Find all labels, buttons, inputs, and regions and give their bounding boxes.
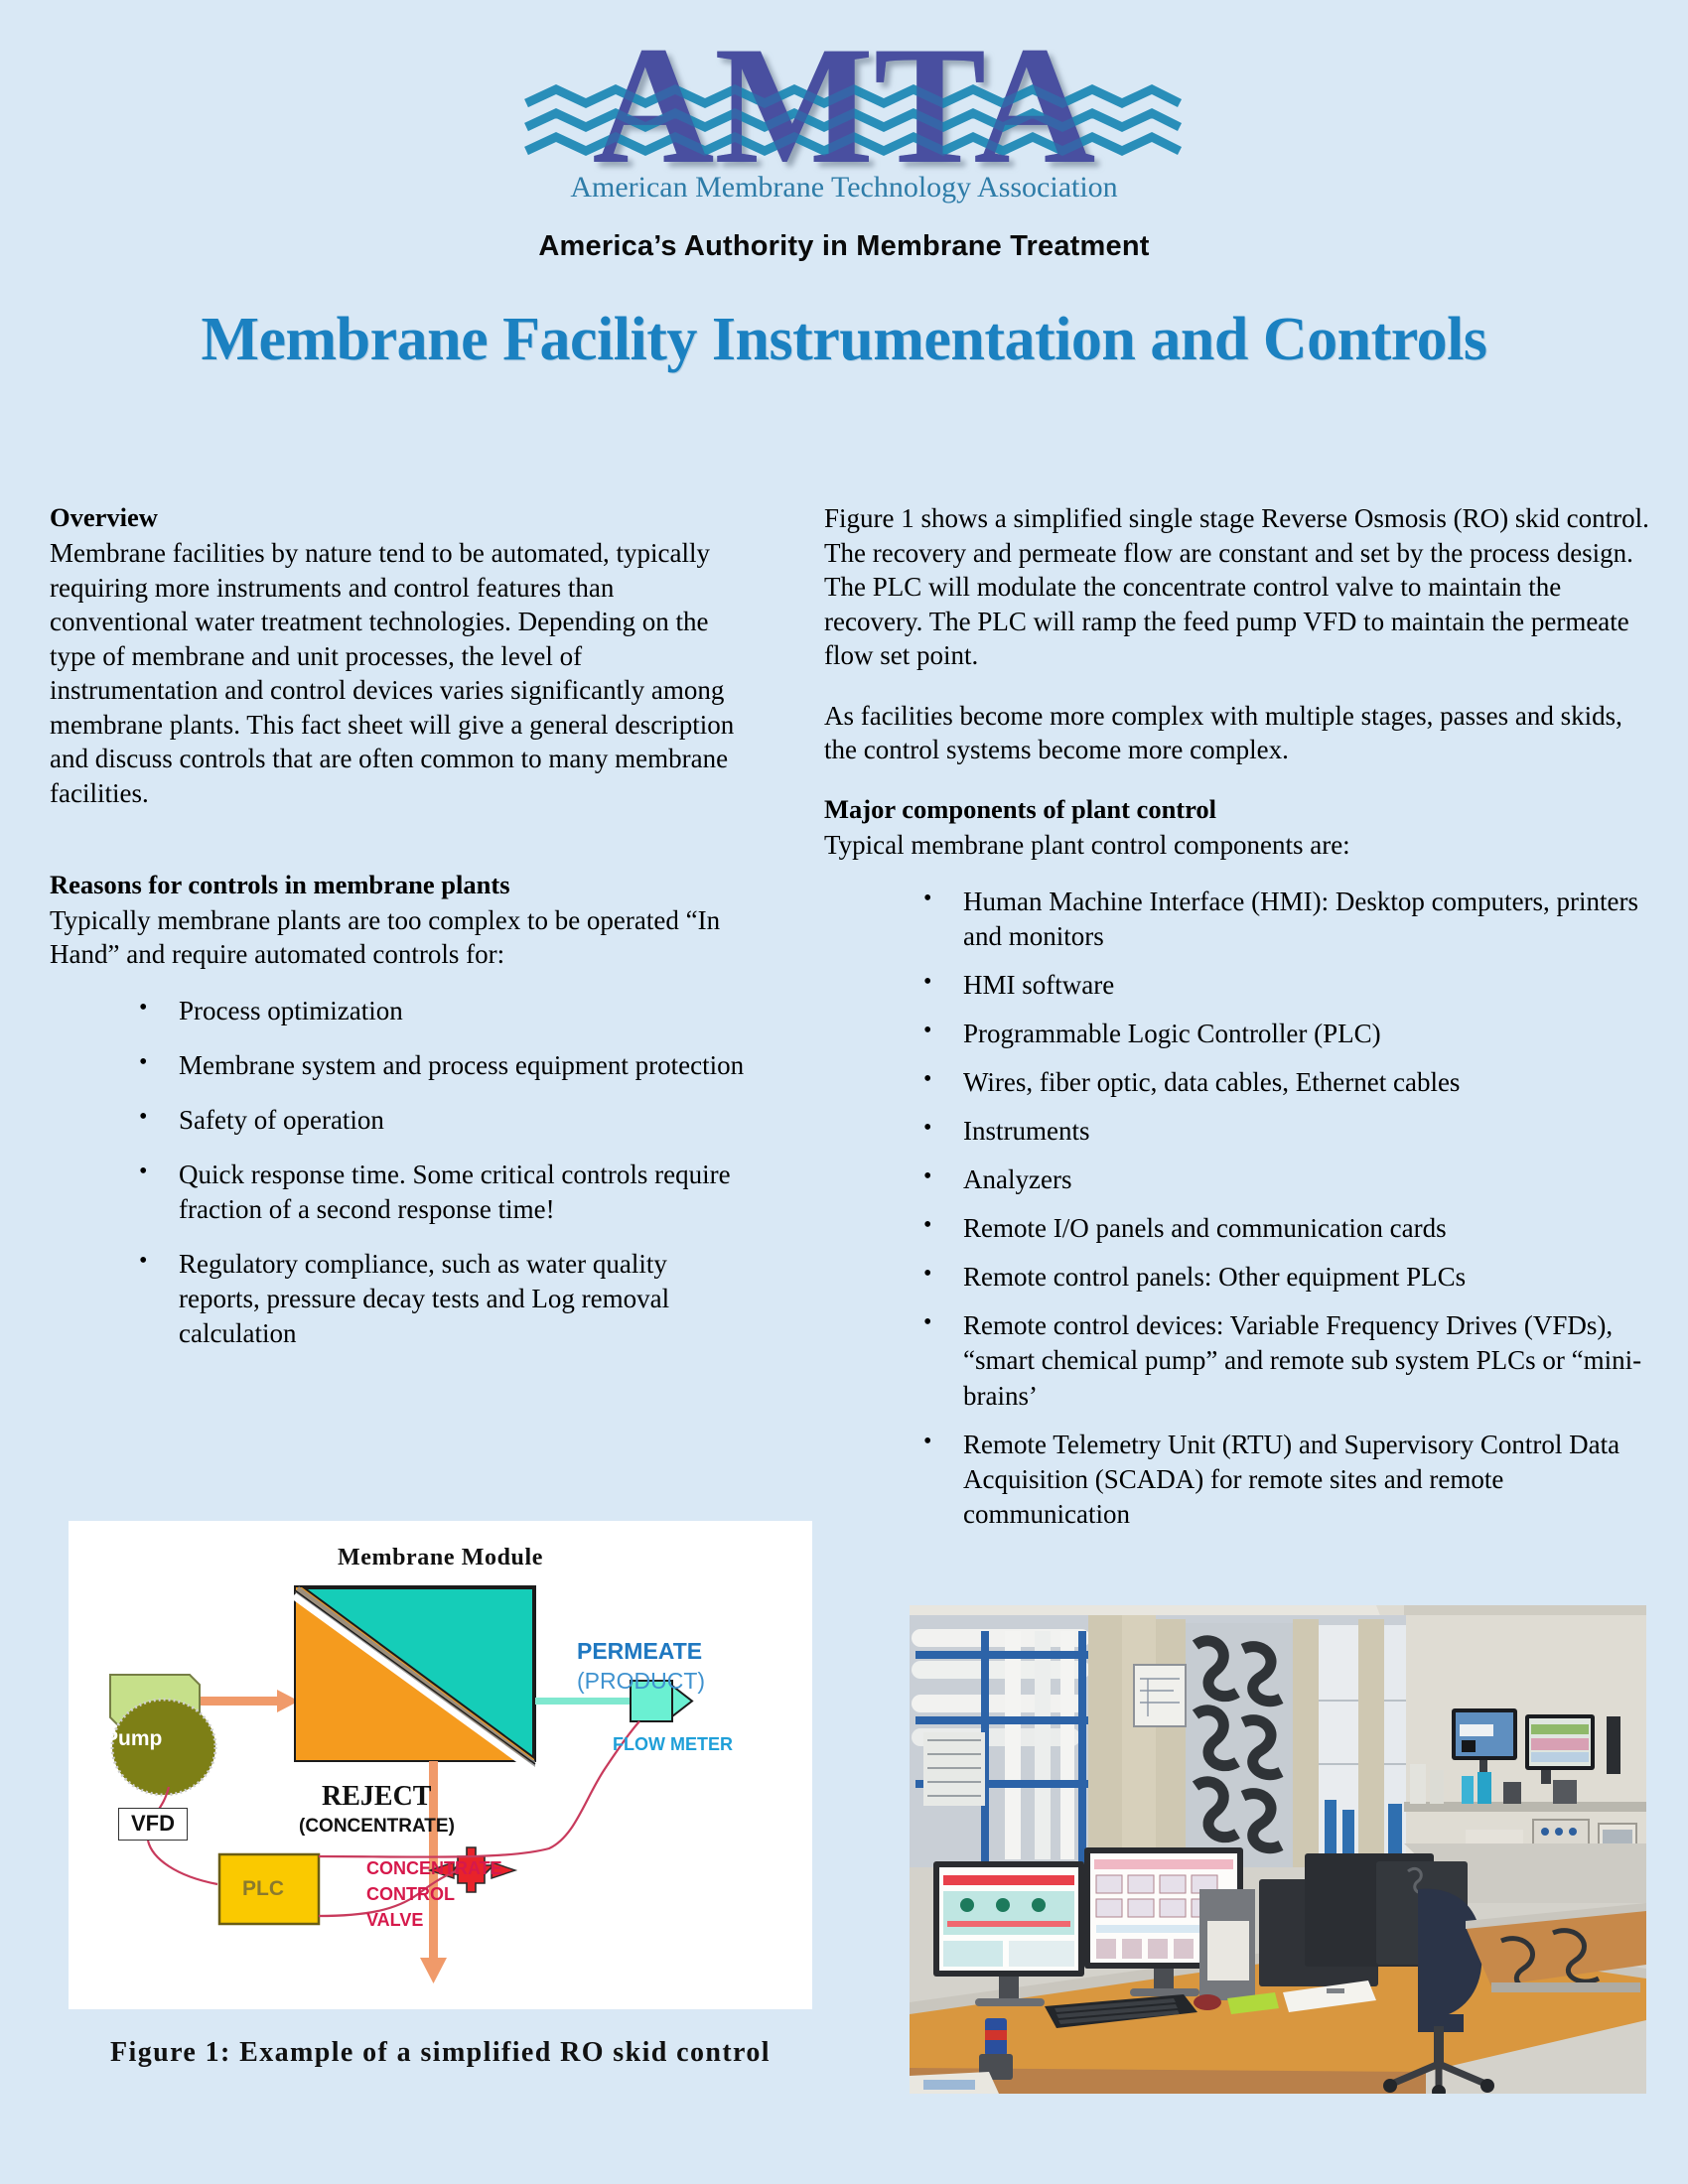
flow-meter-label: FLOW METER [613, 1734, 733, 1755]
overview-paragraph: Membrane facilities by nature tend to be… [50, 536, 745, 810]
control-room-photo-graphic [910, 1605, 1646, 2094]
reasons-heading: Reasons for controls in membrane plants [50, 869, 745, 901]
pump-label: Pump [104, 1727, 162, 1751]
concentrate-label: (CONCENTRATE) [299, 1816, 455, 1838]
page-header: AMTA AMTA American Membrane Technology A… [0, 0, 1688, 263]
concentrate-control-valve-label: CONCENTRATE CONTROL VALVE [366, 1855, 502, 1933]
logo-association-name: American Membrane Technology Association [570, 171, 1117, 204]
list-item: Remote I/O panels and communication card… [923, 1211, 1658, 1246]
list-item: Human Machine Interface (HMI): Desktop c… [923, 885, 1658, 954]
list-item: Regulatory compliance, such as water qua… [139, 1247, 745, 1351]
figure-intro-paragraph: Figure 1 shows a simplified single stage… [824, 501, 1658, 673]
list-item: Analyzers [923, 1162, 1658, 1197]
list-item: Wires, fiber optic, data cables, Etherne… [923, 1065, 1658, 1100]
list-item: Instruments [923, 1114, 1658, 1149]
amta-logo-graphic: AMTA AMTA American Membrane Technology A… [496, 18, 1192, 206]
reasons-intro: Typically membrane plants are too comple… [50, 903, 745, 972]
amta-logo: AMTA AMTA American Membrane Technology A… [496, 18, 1192, 231]
complexity-paragraph: As facilities become more complex with m… [824, 699, 1658, 767]
list-item: Programmable Logic Controller (PLC) [923, 1017, 1658, 1051]
left-column: Overview Membrane facilities by nature t… [0, 501, 804, 1546]
vfd-label: VFD [118, 1808, 188, 1841]
figure-1-diagram: Membrane Module [69, 1521, 812, 2009]
list-item: Remote control devices: Variable Frequen… [923, 1308, 1658, 1413]
list-item: Remote Telemetry Unit (RTU) and Supervis… [923, 1428, 1658, 1532]
feed-flow-arrow [198, 1690, 299, 1712]
components-heading: Major components of plant control [824, 793, 1658, 826]
page-title: Membrane Facility Instrumentation and Co… [0, 305, 1688, 375]
figure-1-block: Membrane Module [69, 1521, 812, 2069]
column-spacer [50, 811, 745, 869]
permeate-line [535, 1698, 633, 1705]
overview-heading: Overview [50, 501, 745, 534]
components-bullet-list: Human Machine Interface (HMI): Desktop c… [824, 885, 1658, 1532]
list-item: Quick response time. Some critical contr… [139, 1158, 745, 1227]
list-item: HMI software [923, 968, 1658, 1003]
logo-tagline: America’s Authority in Membrane Treatmen… [0, 230, 1688, 263]
membrane-module-shape [291, 1586, 535, 1767]
body-columns: Overview Membrane facilities by nature t… [0, 501, 1688, 1546]
right-column: Figure 1 shows a simplified single stage… [804, 501, 1688, 1546]
product-label: (PRODUCT) [577, 1668, 705, 1695]
reject-label: REJECT [322, 1781, 431, 1813]
plc-label: PLC [242, 1877, 284, 1901]
control-room-photo [910, 1605, 1646, 2094]
list-item: Safety of operation [139, 1103, 745, 1138]
reasons-bullet-list: Process optimization Membrane system and… [50, 994, 745, 1352]
list-item: Membrane system and process equipment pr… [139, 1048, 745, 1083]
list-item: Process optimization [139, 994, 745, 1028]
ro-skid-schematic [69, 1521, 812, 2009]
figure-1-caption: Figure 1: Example of a simplified RO ski… [69, 2037, 812, 2069]
components-intro: Typical membrane plant control component… [824, 828, 1658, 863]
permeate-label: PERMEATE [577, 1638, 702, 1665]
list-item: Remote control panels: Other equipment P… [923, 1260, 1658, 1295]
